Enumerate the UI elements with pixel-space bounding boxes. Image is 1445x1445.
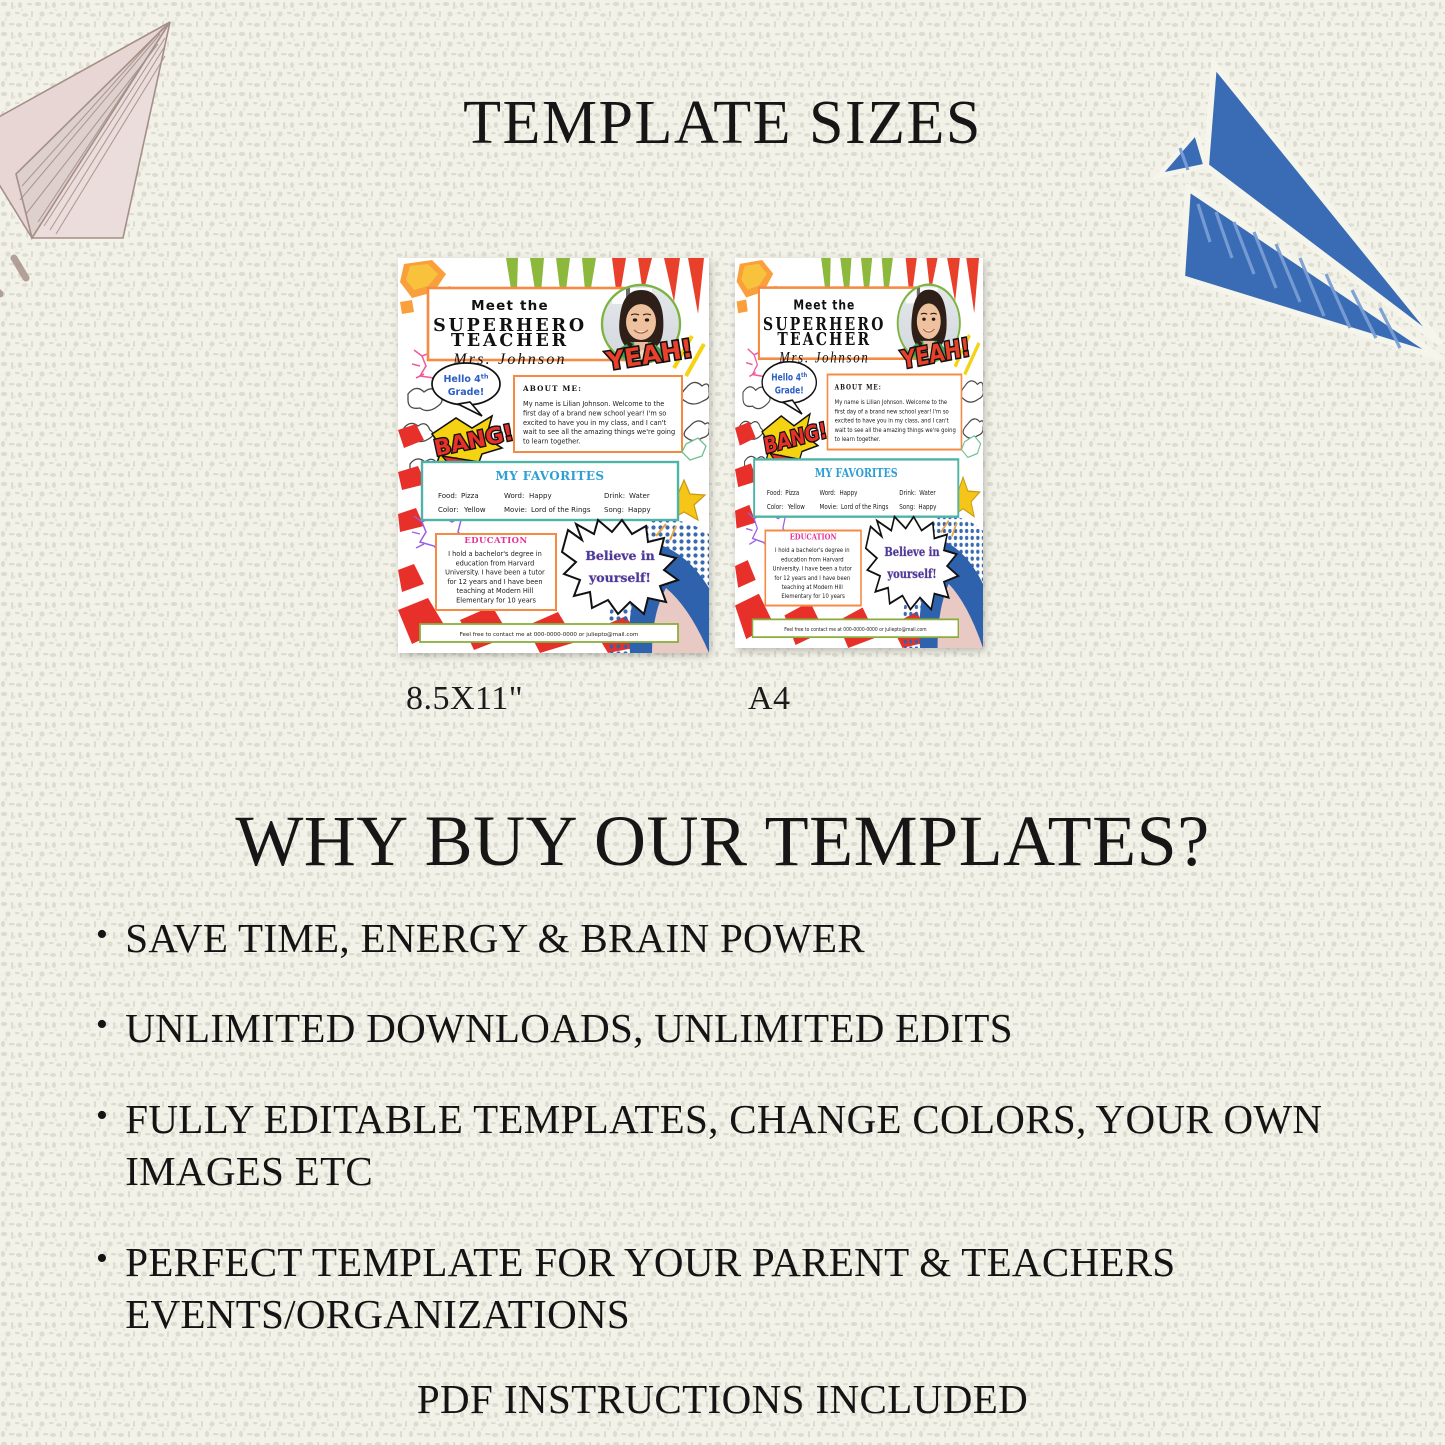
svg-text:Word:: Word: xyxy=(820,489,836,497)
favorite-item-word: Word: xyxy=(504,492,524,500)
about-me-section: ABOUT ME: My name is Lilian Johnson. Wel… xyxy=(514,376,682,452)
svg-text:Happy: Happy xyxy=(918,503,936,511)
svg-text:Feel free to contact me at 000: Feel free to contact me at 000-0000-0000… xyxy=(784,627,926,634)
flyer-header-line3-a4: TEACHER xyxy=(777,328,871,349)
svg-text:Lord of the Rings: Lord of the Rings xyxy=(841,503,888,511)
education-section-a4: EDUCATION I hold a bachelor's degree in … xyxy=(765,531,861,606)
bullet-dot-icon: • xyxy=(96,1002,108,1049)
benefit-text: FULLY EDITABLE TEMPLATES, CHANGE COLORS,… xyxy=(125,1093,1386,1198)
svg-text:ABOUT ME:: ABOUT ME: xyxy=(834,383,882,392)
bullet-dot-icon: • xyxy=(96,912,108,959)
svg-text:Water: Water xyxy=(919,489,936,497)
greeting-text-end: Grade! xyxy=(448,387,484,398)
svg-text:MY FAVORITES: MY FAVORITES xyxy=(815,466,898,480)
favorite-value-movie: Lord of the Rings xyxy=(531,506,591,514)
favorite-value-song: Happy xyxy=(628,506,651,514)
favorites-section: MY FAVORITES Food: Pizza Word: Happy Dri… xyxy=(422,462,678,520)
education-section: EDUCATION I hold a bachelor's degree in … xyxy=(436,534,556,610)
favorite-value-color: Yellow xyxy=(463,506,486,514)
list-item: • FULLY EDITABLE TEMPLATES, CHANGE COLOR… xyxy=(96,1093,1386,1198)
svg-text:Food:: Food: xyxy=(767,489,782,497)
benefit-text: SAVE TIME, ENERGY & BRAIN POWER xyxy=(125,912,1386,964)
about-me-section-a4: ABOUT ME: My name is Lilian Johnson. Wel… xyxy=(828,375,962,450)
contact-bar: Feel free to contact me at 000-0000-0000… xyxy=(420,624,678,642)
favorite-item-food: Food: xyxy=(438,492,457,500)
favorite-item-song: Song: xyxy=(604,506,624,514)
contact-text: Feel free to contact me at 000-0000-0000… xyxy=(460,632,639,638)
favorite-value-food: Pizza xyxy=(461,492,479,500)
list-item: • SAVE TIME, ENERGY & BRAIN POWER xyxy=(96,912,1386,964)
svg-text:Happy: Happy xyxy=(839,489,857,497)
svg-text:EDUCATION: EDUCATION xyxy=(790,532,837,542)
favorite-item-color: Color: xyxy=(438,506,459,514)
favorite-value-word: Happy xyxy=(529,492,552,500)
favorite-item-movie: Movie: xyxy=(504,506,527,514)
flyer-artwork-letter: Meet the SUPERHERO TEACHER Mrs. Johnson xyxy=(398,258,709,653)
education-heading: EDUCATION xyxy=(464,535,527,545)
svg-text:Grade!: Grade! xyxy=(775,386,804,397)
svg-text:yourself!: yourself! xyxy=(886,566,936,581)
pdf-instructions-note: PDF INSTRUCTIONS INCLUDED xyxy=(0,1375,1445,1423)
page-title-why-buy: WHY BUY OUR TEMPLATES? xyxy=(0,800,1445,883)
svg-text:Believe in: Believe in xyxy=(884,544,939,559)
flyer-header-line1-a4: Meet the xyxy=(793,297,855,312)
benefit-text: UNLIMITED DOWNLOADS, UNLIMITED EDITS xyxy=(125,1002,1386,1054)
flyer-header-line1: Meet the xyxy=(471,298,549,314)
benefits-list: • SAVE TIME, ENERGY & BRAIN POWER • UNLI… xyxy=(96,912,1386,1379)
bullet-dot-icon: • xyxy=(96,1093,108,1140)
benefit-text: PERFECT TEMPLATE FOR YOUR PARENT & TEACH… xyxy=(125,1236,1386,1341)
favorites-section-a4: MY FAVORITES Food: Pizza Word: Happy Dri… xyxy=(754,459,958,516)
about-heading: ABOUT ME: xyxy=(522,384,582,393)
list-item: • UNLIMITED DOWNLOADS, UNLIMITED EDITS xyxy=(96,1002,1386,1054)
page-title-template-sizes: TEMPLATE SIZES xyxy=(0,88,1445,159)
svg-text:Movie:: Movie: xyxy=(820,503,838,511)
believe-line1: Believe in xyxy=(585,548,654,563)
favorite-item-drink: Drink: xyxy=(604,492,625,500)
contact-bar-a4: Feel free to contact me at 000-0000-0000… xyxy=(753,619,959,637)
svg-text:Drink:: Drink: xyxy=(899,489,916,497)
flyer-previews-row: Meet the SUPERHERO TEACHER Mrs. Johnson xyxy=(0,258,1445,718)
flyer-artwork-a4: Meet the SUPERHERO TEACHER Mrs. Johnson xyxy=(735,258,983,648)
bullet-dot-icon: • xyxy=(96,1236,108,1283)
favorites-heading: MY FAVORITES xyxy=(496,469,605,483)
svg-text:Yellow: Yellow xyxy=(787,503,805,511)
size-label-a4: A4 xyxy=(748,680,791,718)
flyer-header-line3: TEACHER xyxy=(451,331,569,351)
favorite-value-drink: Water xyxy=(629,492,650,500)
svg-text:Pizza: Pizza xyxy=(785,489,799,497)
list-item: • PERFECT TEMPLATE FOR YOUR PARENT & TEA… xyxy=(96,1236,1386,1341)
believe-line2: yourself! xyxy=(588,570,651,585)
greeting-text-sup: th xyxy=(481,373,489,381)
size-label-letter: 8.5X11" xyxy=(406,680,523,718)
svg-text:Song:: Song: xyxy=(899,503,915,511)
greeting-text-main: Hello 4 xyxy=(443,374,481,385)
svg-text:Color:: Color: xyxy=(767,503,783,511)
